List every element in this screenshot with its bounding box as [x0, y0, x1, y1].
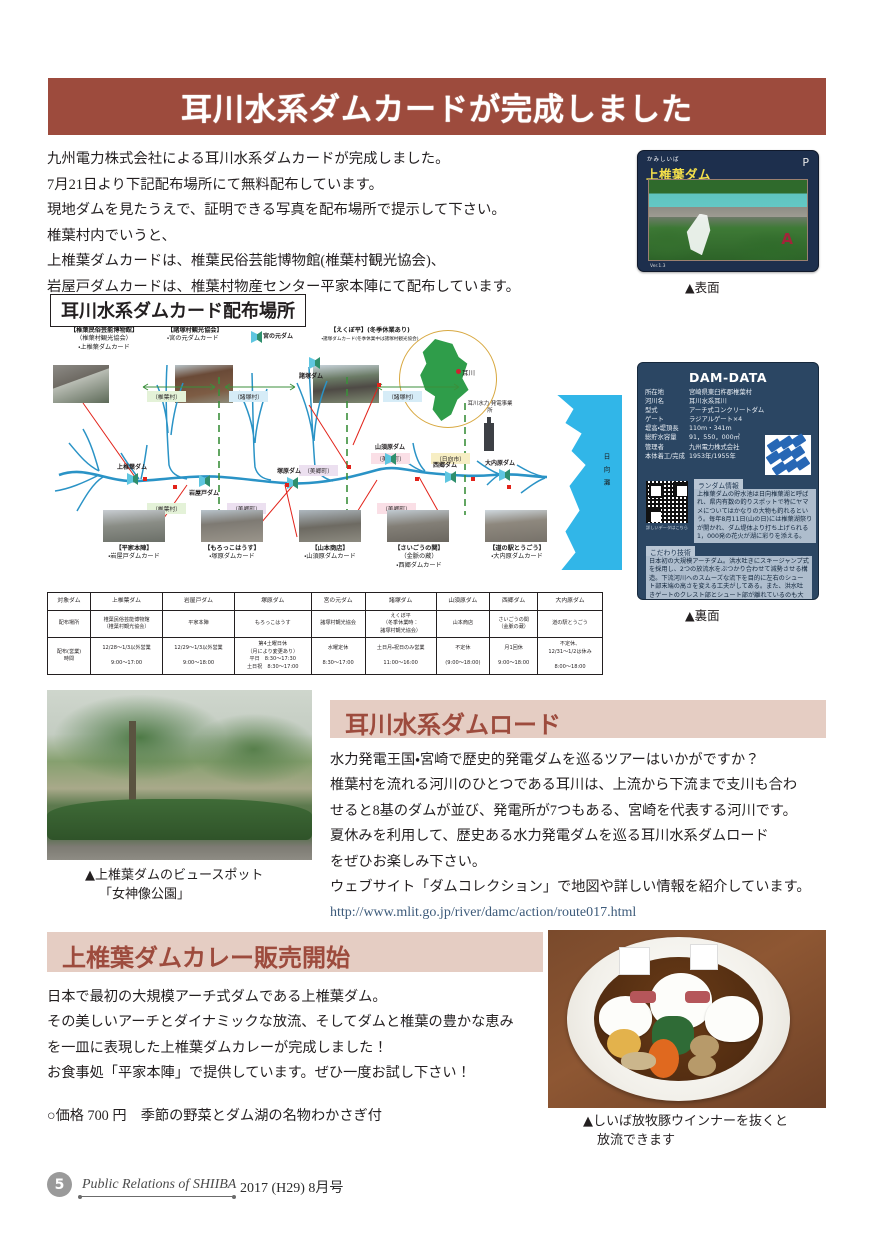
table-cell: 大内原ダム: [538, 593, 603, 611]
location-marker-icon: [173, 485, 177, 489]
table-cell: 岩屋戸ダム: [162, 593, 234, 611]
dam-label: 宮の元ダム: [263, 331, 293, 340]
table-cell: 宮の元ダム: [311, 593, 365, 611]
dam-card-ruby: かみしいば: [647, 155, 680, 163]
place-photo: [103, 510, 165, 542]
table-cell: 上椎葉ダム: [91, 593, 163, 611]
place-name: 【道の駅とうごう】: [489, 545, 545, 552]
place-photo: [201, 510, 263, 542]
spec-key: 所在地: [645, 388, 687, 397]
place-name: 【もろっこはうす】: [204, 545, 260, 552]
place-name: 【山本商店】: [311, 545, 348, 552]
body-line: をぜひお楽しみ下さい。: [330, 850, 830, 875]
body-line: 夏休みを利用して、歴史ある水力発電ダムを巡る耳川水系ダムロード: [330, 824, 830, 849]
table-cell: 山須原ダム: [436, 593, 490, 611]
table-cell: 山本商店: [436, 611, 490, 638]
dam-icon: [385, 453, 396, 465]
body-line: を一皿に表現した上椎葉ダムカレーが完成しました！: [47, 1036, 547, 1061]
table-cell: さいごうの関 （金脈の蔵）: [490, 611, 538, 638]
location-marker-icon: [471, 477, 475, 481]
curry-photo-caption: ▲しいば放牧豚ウインナーを抜くと 放流できます: [583, 1112, 788, 1150]
dam-label: 諸塚ダム: [299, 371, 323, 380]
dam-label: 塚原ダム: [277, 466, 301, 475]
zone-label: （美郷町）: [299, 465, 338, 476]
row-header: 配布場所: [48, 611, 91, 638]
page-number-badge: 5: [47, 1172, 72, 1197]
body-line: ウェブサイト「ダムコレクション」で地図や詳しい情報を紹介しています。: [330, 875, 830, 900]
dam-card-version: Ver.1.3: [650, 264, 666, 269]
table-cell: 12/29〜1/3以外営業 9:00〜18:00: [162, 638, 234, 675]
distribution-table: 対象ダム 上椎葉ダム 岩屋戸ダム 塚原ダム 宮の元ダム 諸塚ダム 山須原ダム 西…: [47, 592, 603, 675]
spec-row: 河川名 耳川水系耳川: [645, 397, 813, 406]
dam-icon: [251, 331, 262, 343]
newsletter-page: 耳川水系ダムカードが完成しました 九州電力株式会社による耳川水系ダムカードが完成…: [0, 0, 874, 1236]
table-cell: 12/28〜1/3以外営業 9:00〜17:00: [91, 638, 163, 675]
curry-section-heading: 上椎葉ダムカレー販売開始: [62, 938, 350, 973]
table-cell: 諸塚ダム: [365, 593, 436, 611]
page-title: 耳川水系ダムカードが完成しました: [181, 84, 693, 129]
zone-label: （椎葉村）: [147, 391, 186, 402]
table-cell: 月1回休 9:00〜18:00: [490, 638, 538, 675]
map-section-title: 耳川水系ダムカード配布場所: [50, 294, 306, 327]
dam-label: 岩屋戸ダム: [189, 488, 219, 497]
table-cell: 不定休、 12/31〜1/2は休み 8:00〜18:00: [538, 638, 603, 675]
place-name: 【さいごうの関】: [394, 545, 444, 552]
wakasagi-fish: [621, 1052, 657, 1070]
footer-rule: [80, 1196, 234, 1197]
detail-tech-body: 日本初の大規模アーチダム。洪水吐きにスキージャンプ式を採用し、2つの放流水をぶつ…: [646, 556, 812, 600]
distribution-map: 【椎葉民俗芸能博物館】 （椎葉村観光協会） ・上椎葉ダムカード 【諸塚村観光協会…: [47, 325, 622, 590]
map-place-label: 【道の駅とうごう】 ・大内原ダムカード: [479, 545, 555, 562]
spec-row: 所在地 宮崎県東臼杵郡椎葉村: [645, 388, 813, 397]
table-cell: 西郷ダム: [490, 593, 538, 611]
spillway-water: [684, 214, 722, 256]
table-cell: 椎葉民俗芸能博物館 （椎葉村観光協会）: [91, 611, 163, 638]
card-back-caption: ▲裏面: [685, 605, 720, 624]
row-header: 配布(営業) 時間: [48, 638, 91, 675]
spec-key: 管理者: [645, 443, 687, 452]
spec-value: 宮崎県東臼杵郡椎葉村: [689, 388, 752, 397]
dam-data-title: DAM-DATA: [638, 370, 818, 385]
table-cell: 道の駅とうごう: [538, 611, 603, 638]
curry-section-body: 日本で最初の大規模アーチ式ダムである上椎葉ダム。 その美しいアーチとダイナミック…: [47, 985, 547, 1129]
place-photo: [485, 510, 547, 542]
body-line: せると8基のダムが並び、発電所が7つもある、宮崎を代表する河川です。: [330, 799, 830, 824]
spec-value: 九州電力株式会社: [689, 443, 739, 452]
body-line: 日本で最初の大規模アーチ式ダムである上椎葉ダム。: [47, 985, 547, 1010]
intro-line: 7月21日より下記配布場所にて無料配布しています。: [47, 173, 547, 199]
dam-label: 大内原ダム: [485, 458, 515, 467]
spec-value: ラジアルゲート×4: [689, 415, 742, 424]
table-cell: 諸塚村観光協会: [311, 611, 365, 638]
hedge-row: [47, 799, 312, 840]
page-header-banner: 耳川水系ダムカードが完成しました: [48, 78, 826, 135]
spec-key: 本体着工/完成: [645, 452, 687, 461]
body-line: お食事処「平家本陣」で提供しています。ぜひ一度お試し下さい！: [47, 1061, 547, 1086]
body-line: 椎葉村を流れる河川のひとつである耳川は、上流から下流まで支川も合わ: [330, 773, 830, 798]
dam-icon: [127, 473, 138, 485]
spec-key: ゲート: [645, 415, 687, 424]
dam-card-front: かみしいば 上椎葉ダム P A Ver.1.3: [637, 150, 819, 272]
publication-name: Public Relations of SHIIBA: [82, 1177, 236, 1193]
plate: [567, 937, 789, 1101]
place-card: ・大内原ダムカード: [491, 553, 543, 560]
spec-row: ゲート ラジアルゲート×4: [645, 415, 813, 424]
curry-photo: [548, 930, 826, 1108]
kyuden-logo-icon: [765, 435, 811, 475]
spec-value: 91，550，000㎥: [689, 433, 740, 442]
zone-label: （諸塚村）: [229, 391, 268, 402]
row-header: 対象ダム: [48, 593, 91, 611]
dam-label: 西郷ダム: [433, 460, 457, 469]
dam-card-grade: A: [781, 230, 793, 248]
place-card: ・山須原ダムカード: [304, 553, 356, 560]
table-cell: 塚原ダム: [234, 593, 311, 611]
caption-line: ▲上椎葉ダムのビュースポット: [85, 866, 263, 885]
dam-icon: [309, 357, 320, 369]
location-marker-icon: [285, 483, 289, 487]
spec-key: 堤高・堤頂長: [645, 424, 687, 433]
table-cell: もろっこはうす: [234, 611, 311, 638]
table-cell: えくぼ平 （冬季休業時： 諸塚村観光協会）: [365, 611, 436, 638]
sausage: [685, 991, 709, 1002]
dam-label: 山須原ダム: [375, 442, 405, 451]
spec-value: 1953年/1955年: [689, 452, 736, 461]
intro-paragraph: 九州電力株式会社による耳川水系ダムカードが完成しました。 7月21日より下記配布…: [47, 147, 547, 300]
location-marker-icon: [347, 465, 351, 469]
table-row: 対象ダム 上椎葉ダム 岩屋戸ダム 塚原ダム 宮の元ダム 諸塚ダム 山須原ダム 西…: [48, 593, 603, 611]
sausage: [630, 991, 657, 1002]
map-place-label: 【もろっこはうす】 ・塚原ダムカード: [195, 545, 269, 562]
spec-key: 型式: [645, 406, 687, 415]
table-row: 配布場所 椎葉民俗芸能博物館 （椎葉村観光協会） 平家本陣 もろっこはうす 諸塚…: [48, 611, 603, 638]
map-place-label: 【さいごうの関】 （金脈の蔵） ・西郷ダムカード: [381, 545, 457, 570]
place-card: ・岩屋戸ダムカード: [108, 553, 160, 560]
spec-value: 耳川水系耳川: [689, 397, 727, 406]
dam-photo: A: [648, 179, 808, 261]
qr-code-icon: [646, 481, 688, 523]
caption-line: ▲しいば放牧豚ウインナーを抜くと: [583, 1112, 788, 1131]
caption-line: 「女神像公園」: [85, 885, 263, 904]
table-cell: 不定休 (9:00〜18:00): [436, 638, 490, 675]
dam-label: 上椎葉ダム: [117, 462, 147, 471]
random-info-body: 上椎葉ダムの貯水池は日向椎葉湖と呼ばれ、県内有数の釣りスポットで特にヤマメについ…: [694, 489, 816, 543]
card-front-caption: ▲表面: [685, 277, 720, 296]
dam-icon: [199, 475, 210, 487]
table-row: 配布(営業) 時間 12/28〜1/3以外営業 9:00〜17:00 12/29…: [48, 638, 603, 675]
zone-label: （諸塚村）: [383, 391, 422, 402]
place-photo: [299, 510, 361, 542]
pick-flag-icon: [690, 944, 719, 971]
road-section-body: 水力発電王国・宮崎で歴史的発電ダムを巡るツアーはいかがですか？ 椎葉村を流れる河…: [330, 748, 830, 926]
dam-icon: [499, 469, 510, 481]
viewpoint-photo: [47, 690, 312, 860]
pick-flag-icon: [619, 947, 650, 975]
place-photo: [387, 510, 449, 542]
spec-key: 総貯水容量: [645, 433, 687, 442]
intro-line: 現地ダムを見たうえで、証明できる写真を配布場所で提示して下さい。: [47, 198, 547, 224]
location-marker-icon: [377, 383, 381, 387]
body-line: 水力発電王国・宮崎で歴史的発電ダムを巡るツアーはいかがですか？: [330, 748, 830, 773]
intro-line: 椎葉村内でいうと、: [47, 224, 547, 250]
place-sub: （金脈の蔵）: [400, 553, 437, 560]
caption-line: 放流できます: [583, 1131, 788, 1150]
table-cell: 第4土曜日休 （月により変更あり） 平日 8:30〜17:30 土日祝 8:30…: [234, 638, 311, 675]
curry-price-line: ○価格 700 円 季節の野菜とダム湖の名物わかさぎ付: [47, 1104, 547, 1129]
spec-value: アーチ式コンクリートダム: [689, 406, 764, 415]
road-section-heading: 耳川水系ダムロード: [345, 705, 561, 740]
location-marker-icon: [507, 485, 511, 489]
spec-key: 河川名: [645, 397, 687, 406]
dam-card-back: DAM-DATA 所在地 宮崎県東臼杵郡椎葉村 河川名 耳川水系耳川 型式 アー…: [637, 362, 819, 600]
spec-row: 型式 アーチ式コンクリートダム: [645, 406, 813, 415]
issue-label: 2017 (H29) 8月号: [240, 1177, 343, 1197]
map-place-label: 【平家本陣】 ・岩屋戸ダムカード: [97, 545, 171, 562]
place-card: ・塚原ダムカード: [209, 553, 254, 560]
body-line: その美しいアーチとダイナミックな放流、そしてダムと椎葉の豊かな恵み: [47, 1010, 547, 1035]
rice-mound: [705, 996, 758, 1042]
dam-icon: [445, 471, 456, 483]
viewpoint-photo-caption: ▲上椎葉ダムのビュースポット 「女神像公園」: [85, 866, 263, 904]
table-cell: 土日月・祝日のみ営業 11:00〜16:00: [365, 638, 436, 675]
location-marker-icon: [143, 477, 147, 481]
place-card: ・西郷ダムカード: [396, 562, 441, 569]
intro-line: 九州電力株式会社による耳川水系ダムカードが完成しました。: [47, 147, 547, 173]
spec-value: 110m・341m: [689, 424, 732, 433]
table-cell: 水曜定休 8:30〜17:00: [311, 638, 365, 675]
spec-row: 堤高・堤頂長 110m・341m: [645, 424, 813, 433]
table-cell: 平家本陣: [162, 611, 234, 638]
map-place-label: 【山本商店】 ・山須原ダムカード: [293, 545, 367, 562]
intro-line: 上椎葉ダムカードは、椎葉民俗芸能博物館(椎葉村観光協会)、: [47, 249, 547, 275]
road-section-url[interactable]: http://www.mlit.go.jp/river/damc/action/…: [330, 900, 830, 925]
location-marker-icon: [415, 477, 419, 481]
qr-caption: 詳しいデータはこちら: [643, 525, 691, 531]
dam-card-corner-mark: P: [802, 156, 809, 169]
place-name: 【平家本陣】: [115, 545, 152, 552]
